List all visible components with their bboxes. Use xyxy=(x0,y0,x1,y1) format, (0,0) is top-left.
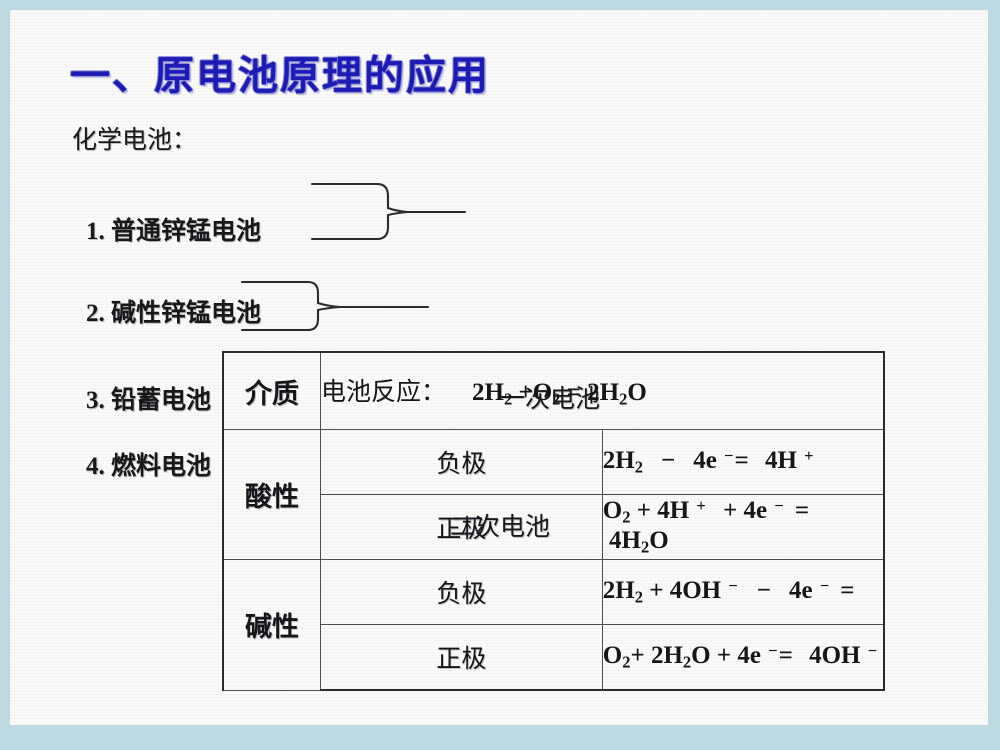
table-cell-electrode-alkaline-positive: 正极 xyxy=(321,625,603,691)
electrode-reaction-table: 介质 电池反应：2H2 +O2 = 2H2O 酸性 负极 2H2−4e −= 4… xyxy=(222,351,885,691)
table-cell-medium-alkaline: 碱性 xyxy=(223,560,321,691)
table-row-alkaline-positive: 正极 O2+ 2H2O + 4e −= 4OH − xyxy=(223,625,884,691)
page-title: 一、原电池原理的应用 xyxy=(70,43,490,101)
table-row-header: 介质 电池反应：2H2 +O2 = 2H2O xyxy=(223,352,884,430)
slide-canvas: 一、原电池原理的应用 化学电池： 1. 普通锌锰电池 2. 碱性锌锰电池 3. … xyxy=(10,10,988,725)
table-cell-electrode-acid-positive: 正极 xyxy=(321,495,603,560)
list-item-primary-zinc-manganese: 1. 普通锌锰电池 xyxy=(86,211,988,247)
table-header-reaction: 电池反应：2H2 +O2 = 2H2O xyxy=(321,352,885,430)
table-cell-equation-alkaline-positive: O2+ 2H2O + 4e −= 4OH − xyxy=(602,625,884,691)
list-item-alkaline-zinc-manganese: 2. 碱性锌锰电池 xyxy=(86,293,988,329)
table-row-acid-positive: 正极 O2 + 4H + + 4e −= 4H2O xyxy=(223,495,884,560)
chemical-battery-heading: 化学电池： xyxy=(72,120,988,156)
table-cell-equation-alkaline-negative: 2H2 + 4OH −−4e −= xyxy=(602,560,884,625)
table-cell-medium-acid: 酸性 xyxy=(223,430,321,560)
table-header-medium: 介质 xyxy=(223,352,321,430)
table-cell-electrode-acid-negative: 负极 xyxy=(321,430,603,495)
table-cell-equation-acid-positive: O2 + 4H + + 4e −= 4H2O xyxy=(602,495,884,560)
overall-reaction-equation: 2H2 +O2 = 2H2O xyxy=(446,379,647,406)
reaction-label: 电池反应： xyxy=(321,379,446,406)
table-cell-electrode-alkaline-negative: 负极 xyxy=(321,560,603,625)
table-cell-equation-acid-negative: 2H2−4e −= 4H + xyxy=(602,430,884,495)
table-row-acid-negative: 酸性 负极 2H2−4e −= 4H + xyxy=(223,430,884,495)
table-row-alkaline-negative: 碱性 负极 2H2 + 4OH −−4e −= xyxy=(223,560,884,625)
